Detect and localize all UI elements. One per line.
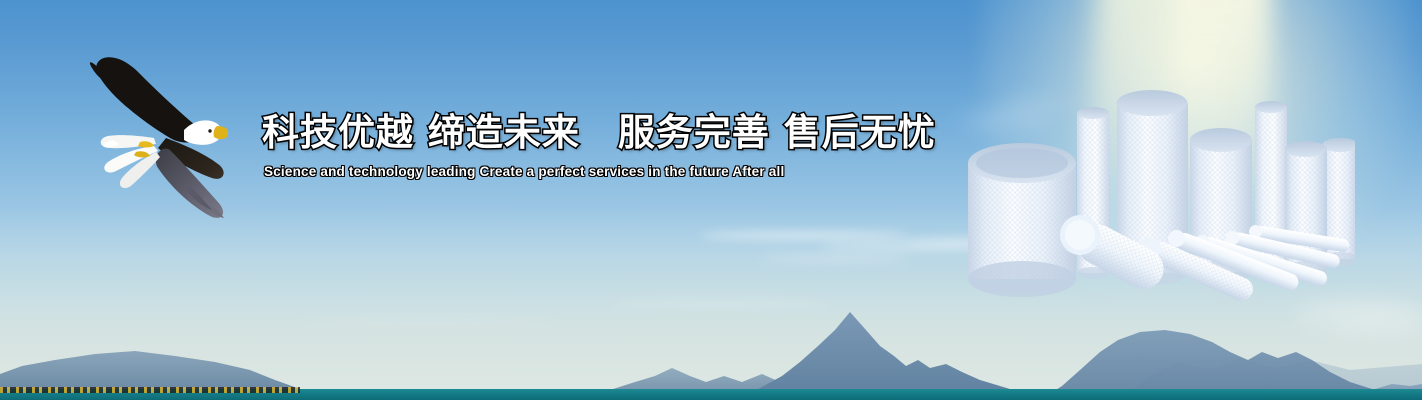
cartridge-wide-large [968,143,1076,297]
shoreline-lights [0,387,300,393]
banner-text-block: 科技优越 缔造未来 服务完善 售后无忧 Science and technolo… [262,112,822,179]
eagle-icon [78,52,228,227]
page-title: 科技优越 缔造未来 服务完善 售后无忧 [262,112,822,153]
filter-cartridge-icon [955,85,1355,310]
promo-banner: 科技优越 缔造未来 服务完善 售后无忧 Science and technolo… [0,0,1422,400]
banner-subtitle: Science and technology leading Create a … [264,164,822,179]
